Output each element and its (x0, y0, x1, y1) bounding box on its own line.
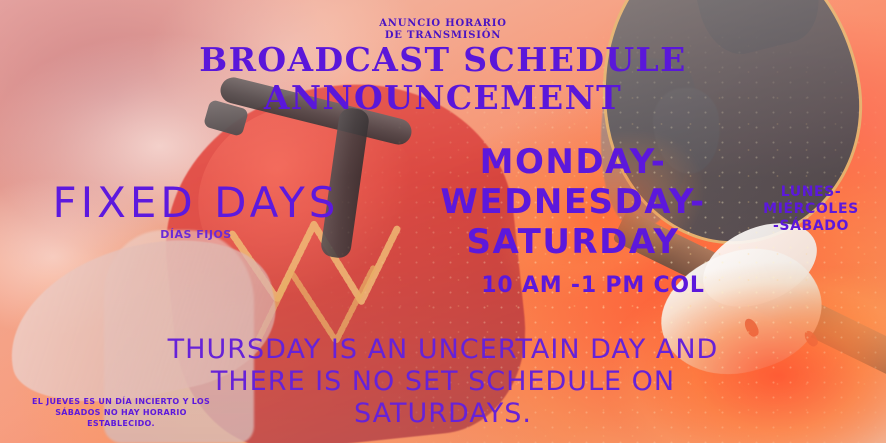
schedule-days-spanish: LUNES- MIÉRCOLES -SÁBADO (742, 184, 880, 235)
broadcast-schedule-poster: ANUNCIO HORARIO DE TRANSMISIÓN BROADCAST… (0, 0, 886, 443)
eyebrow-spanish-label: ANUNCIO HORARIO DE TRANSMISIÓN (0, 18, 886, 42)
text-layer: ANUNCIO HORARIO DE TRANSMISIÓN BROADCAST… (0, 0, 886, 443)
schedule-note-spanish: EL JUEVES ES UN DÍA INCIERTO Y LOS SÁBAD… (18, 396, 224, 429)
fixed-days-heading: FIXED DAYS (28, 182, 364, 224)
schedule-time: 10 AM -1 PM COL (408, 275, 778, 297)
schedule-days-english: MONDAY- WEDNESDAY- SATURDAY (408, 142, 738, 262)
fixed-days-spanish-subtitle: DÍAS FIJOS (28, 229, 364, 240)
page-title: BROADCAST SCHEDULE ANNOUNCEMENT (0, 41, 886, 117)
